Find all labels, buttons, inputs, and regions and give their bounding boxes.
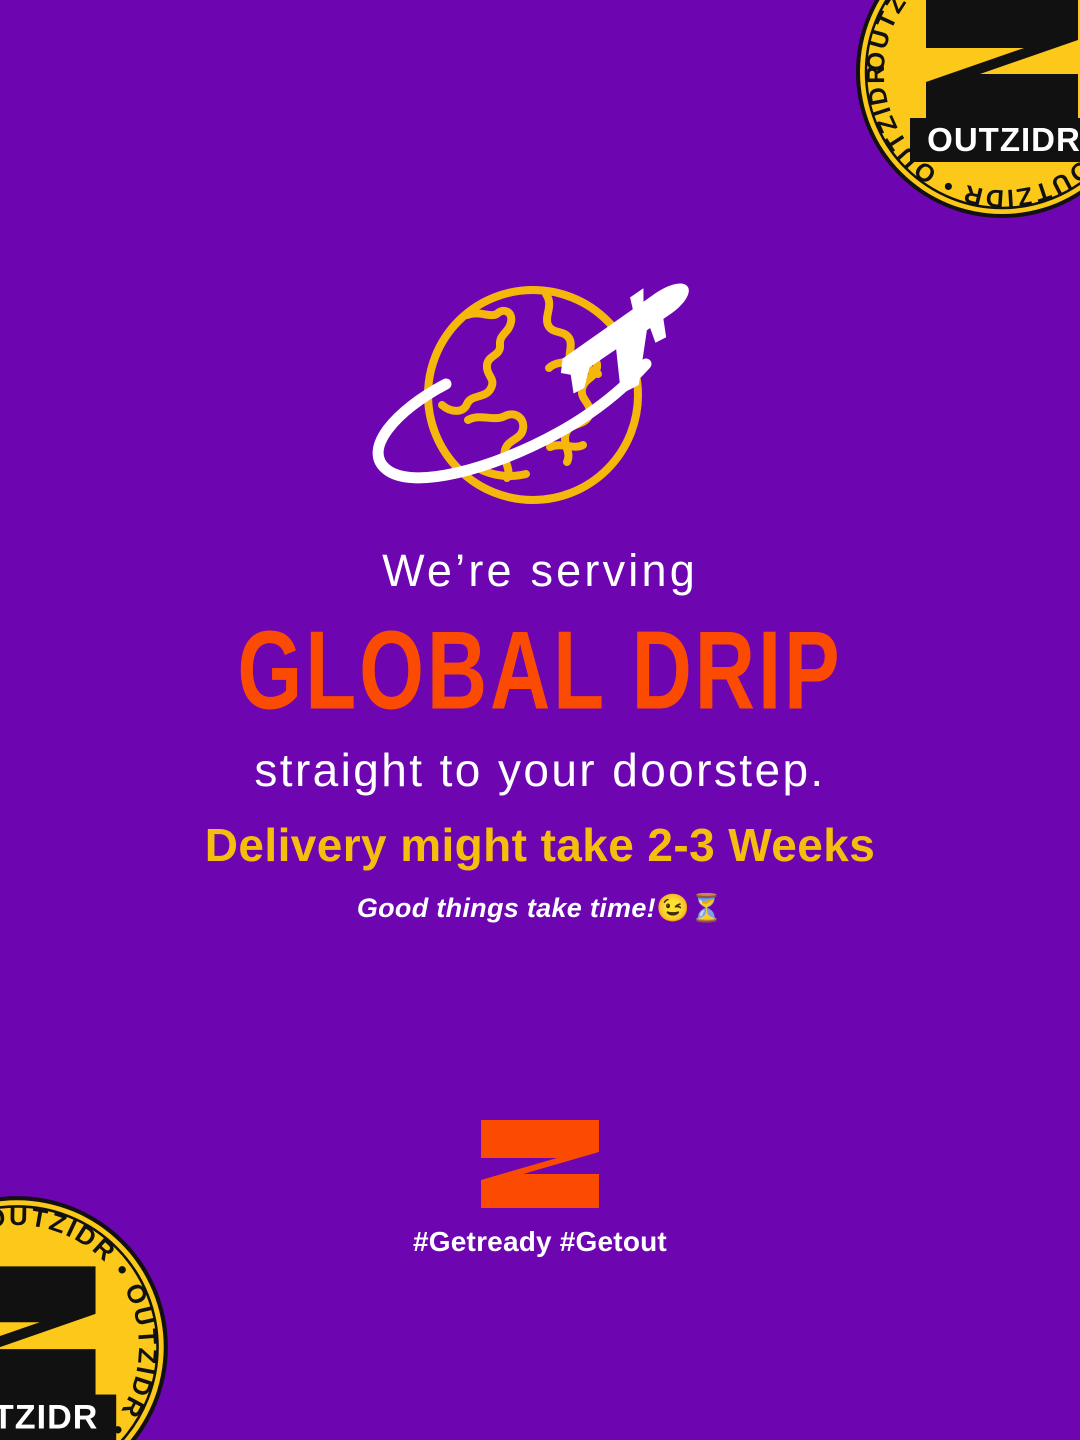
outzidr-badge-top-right: OUTZIDR • OUTZIDR • OUTZIDR • OUTZIDR • … bbox=[852, 0, 1080, 222]
badge-center-wordmark: OUTZIDR bbox=[0, 1399, 98, 1437]
hashtags: #Getready #Getout bbox=[0, 1226, 1080, 1258]
badge-center-z-mark: OUTZIDR bbox=[910, 0, 1080, 162]
serving-line: We’re serving bbox=[0, 548, 1080, 593]
orbit-trail-icon bbox=[378, 364, 646, 478]
emphasis-headline: GLOBAL DRIP bbox=[16, 615, 1064, 727]
doorstep-line: straight to your doorstep. bbox=[0, 747, 1080, 793]
tagline-emoji: 😉⏳ bbox=[656, 893, 723, 923]
poster-canvas: OUTZIDR • OUTZIDR • OUTZIDR • OUTZIDR • … bbox=[0, 0, 1080, 1440]
outzidr-z-logo bbox=[477, 1118, 603, 1210]
delivery-tagline: Good things take time!😉⏳ bbox=[0, 895, 1080, 922]
delivery-block: Delivery might take 2-3 Weeks Good thing… bbox=[0, 822, 1080, 922]
delivery-headline: Delivery might take 2-3 Weeks bbox=[0, 822, 1080, 868]
headline-block: We’re serving GLOBAL DRIP straight to yo… bbox=[0, 548, 1080, 793]
globe-airplane-icon bbox=[350, 272, 730, 522]
tagline-text: Good things take time! bbox=[357, 893, 656, 923]
badge-center-wordmark: OUTZIDR bbox=[927, 121, 1080, 158]
footer-block: #Getready #Getout bbox=[0, 1118, 1080, 1258]
